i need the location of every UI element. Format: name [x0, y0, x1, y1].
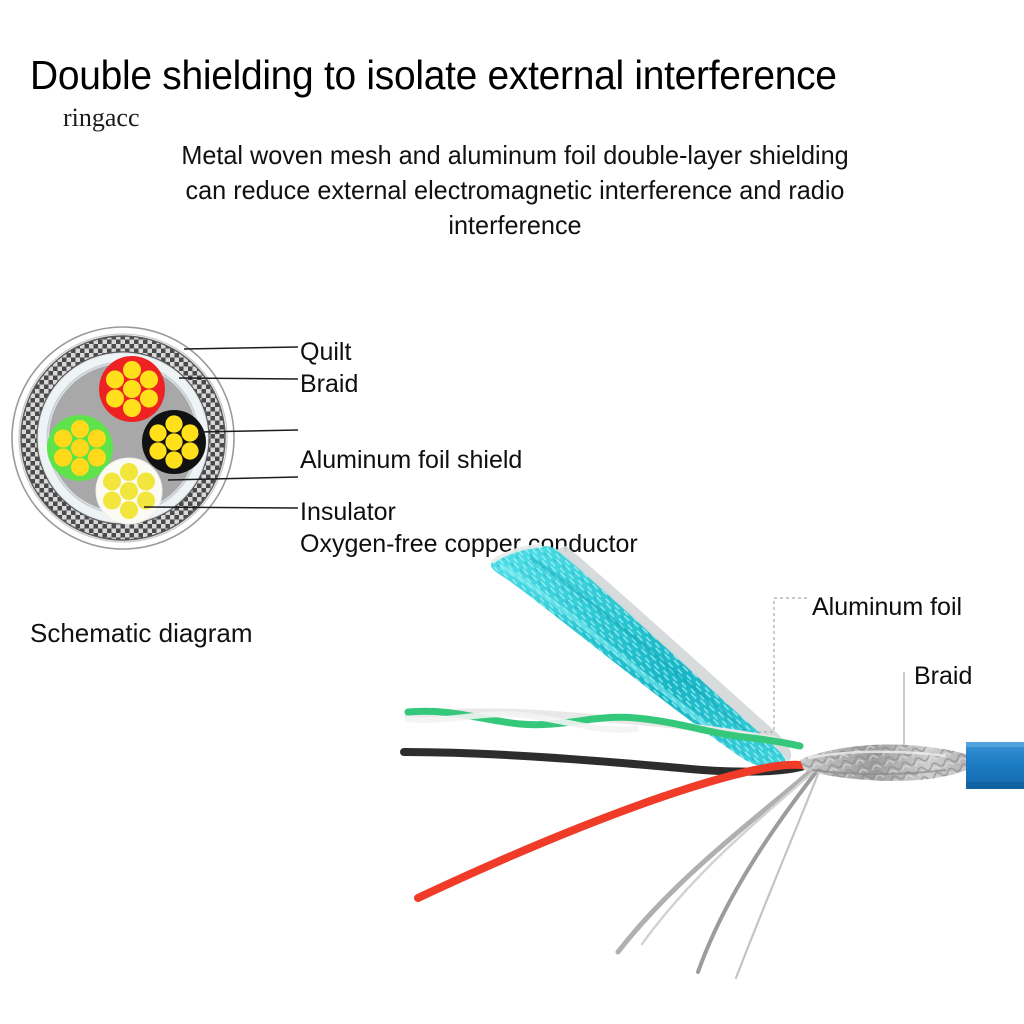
page-title: Double shielding to isolate external int…: [30, 52, 971, 98]
label-aluminum-foil-shield: Aluminum foil shield: [300, 446, 522, 475]
red-conductor-bundle: [99, 356, 165, 422]
cable-photograph: [380, 520, 1024, 990]
red-wire: [418, 765, 808, 898]
white-conductor-bundle: [96, 458, 162, 524]
blue-cable-jacket: [966, 742, 1024, 789]
black-conductor-bundle: [142, 410, 206, 474]
label-quilt: Quilt: [300, 338, 351, 367]
brand-watermark: ringacc: [63, 103, 140, 133]
label-braid: Braid: [300, 370, 358, 399]
photo-label-aluminum-foil: Aluminum foil: [812, 593, 962, 621]
aluminum-foil-strip: [470, 535, 810, 785]
schematic-caption: Schematic diagram: [30, 618, 253, 648]
infographic-page: Double shielding to isolate external int…: [0, 0, 1024, 1024]
photo-label-braid: Braid: [914, 662, 972, 690]
page-subtitle: Metal woven mesh and aluminum foil doubl…: [161, 138, 869, 243]
braid-shield-bundle: [800, 745, 984, 781]
